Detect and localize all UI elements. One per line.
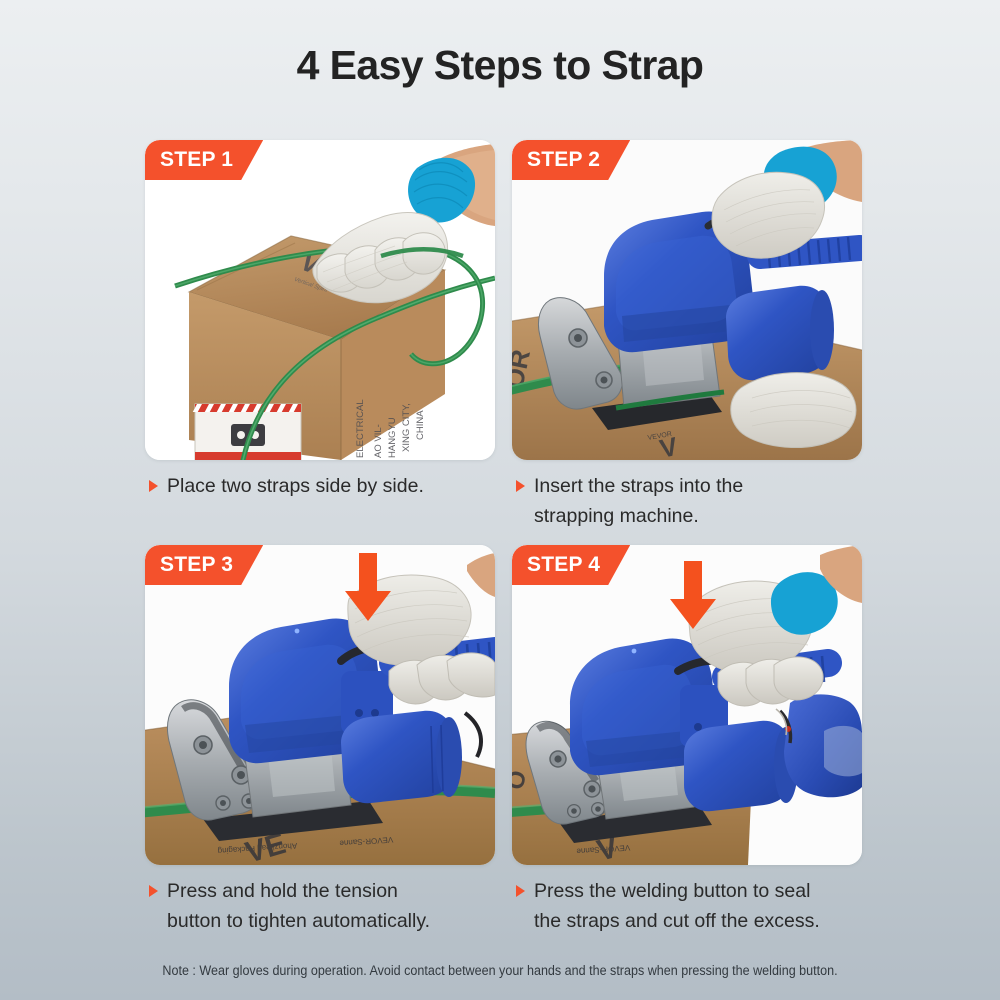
step-3-image-card: VE Ahonzkeag Packaging VEVOR-Sanne <box>145 545 495 865</box>
step-4-image-card: O V VEVOR-Sanne <box>512 545 862 865</box>
svg-text:AO VIL-: AO VIL- <box>373 424 384 458</box>
step-1-caption: Place two straps side by side. <box>145 471 495 531</box>
step-4-caption-line-1: Press the welding button to seal <box>534 876 862 906</box>
svg-text:ELECTRICAL: ELECTRICAL <box>355 399 366 458</box>
step-card-2: OR V VEVOR <box>512 140 862 531</box>
page-title: 4 Easy Steps to Strap <box>0 42 1000 89</box>
step-4-caption-line-2: the straps and cut off the excess. <box>534 906 862 936</box>
step-card-3: VE Ahonzkeag Packaging VEVOR-Sanne <box>145 545 495 936</box>
bullet-triangle-icon <box>516 885 525 897</box>
svg-text:HANGYU: HANGYU <box>387 417 398 458</box>
step-3-caption-line-2: button to tighten automatically. <box>167 906 495 936</box>
step-2-caption: Insert the straps into the strapping mac… <box>512 471 862 531</box>
step-2-caption-line-1: Insert the straps into the <box>534 471 862 501</box>
step-2-caption-line-2: strapping machine. <box>534 501 862 531</box>
step-2-image-card: OR V VEVOR <box>512 140 862 460</box>
steps-grid: VEVOR Vertical Spirit ELECTRICAL AO VIL-… <box>145 140 857 936</box>
step-1-image-card: VEVOR Vertical Spirit ELECTRICAL AO VIL-… <box>145 140 495 460</box>
svg-text:CHINA: CHINA <box>415 410 426 440</box>
step-3-caption: Press and hold the tension button to tig… <box>145 876 495 936</box>
step-card-1: VEVOR Vertical Spirit ELECTRICAL AO VIL-… <box>145 140 495 531</box>
step-4-photo: O V VEVOR-Sanne <box>512 545 862 865</box>
bullet-triangle-icon <box>149 885 158 897</box>
step-1-photo: VEVOR Vertical Spirit ELECTRICAL AO VIL-… <box>145 140 495 460</box>
bullet-triangle-icon <box>149 480 158 492</box>
step-card-4: O V VEVOR-Sanne <box>512 545 862 936</box>
step-3-caption-line-1: Press and hold the tension <box>167 876 495 906</box>
footer-note: Note : Wear gloves during operation. Avo… <box>35 963 965 978</box>
step-3-photo: VE Ahonzkeag Packaging VEVOR-Sanne <box>145 545 495 865</box>
bullet-triangle-icon <box>516 480 525 492</box>
step-4-caption: Press the welding button to seal the str… <box>512 876 862 936</box>
step-2-photo: OR V VEVOR <box>512 140 862 460</box>
infographic-page: 4 Easy Steps to Strap <box>0 0 1000 1000</box>
svg-text:XING CITY,: XING CITY, <box>401 403 412 452</box>
step-1-caption-line-1: Place two straps side by side. <box>167 471 495 501</box>
